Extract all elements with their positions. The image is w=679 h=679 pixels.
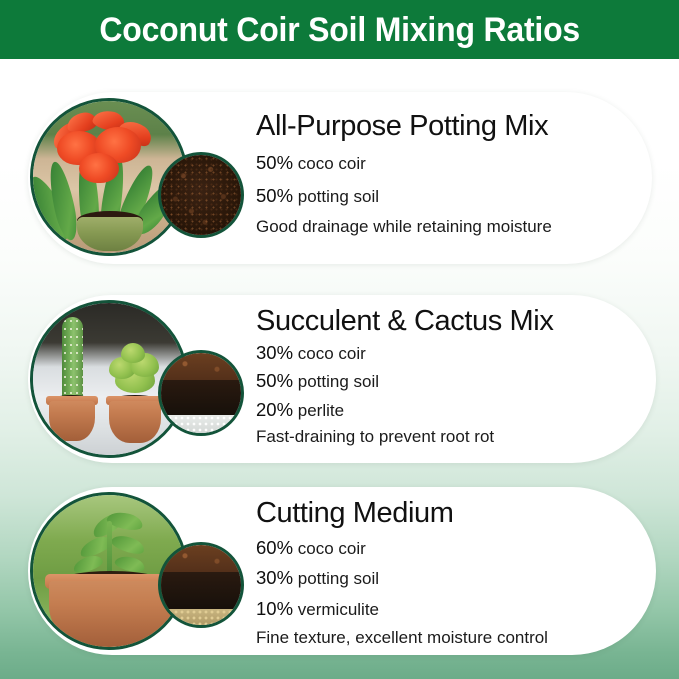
ratio-percent: 50% xyxy=(256,370,293,391)
vermiculite-layer xyxy=(161,609,241,625)
ratio-ingredient: vermiculite xyxy=(298,600,379,619)
ratio-ingredient: potting soil xyxy=(298,372,379,391)
leaf-shape xyxy=(109,531,146,558)
card-title: Succulent & Cactus Mix xyxy=(256,305,553,338)
terracotta-pot xyxy=(49,401,95,441)
card-title: Cutting Medium xyxy=(256,497,548,530)
ratio-ingredient: potting soil xyxy=(298,569,379,588)
cactus-spines xyxy=(62,317,83,399)
ratio-percent: 20% xyxy=(256,399,293,420)
ratio-line: 10% vermiculite xyxy=(256,594,548,624)
ratio-line: 50% coco coir xyxy=(256,147,552,179)
coir-layer xyxy=(161,545,241,572)
ratio-line: 30% potting soil xyxy=(256,563,548,593)
succulent-rosette xyxy=(121,343,145,363)
coir-speckles xyxy=(161,155,241,235)
flower-head xyxy=(79,153,119,183)
ratio-ingredient: coco coir xyxy=(298,344,366,363)
ratio-line: 30% coco coir xyxy=(256,339,553,367)
coir-layer xyxy=(161,353,241,380)
potting-soil-layer xyxy=(161,380,241,415)
ratio-percent: 50% xyxy=(256,152,293,173)
ratio-ingredient: coco coir xyxy=(298,154,366,173)
card-text-cutting-medium: Cutting Medium 60% coco coir 30% potting… xyxy=(256,497,548,651)
coir-soil-perlite-layers-closeup xyxy=(158,350,244,436)
soil-layer-stack xyxy=(161,353,241,433)
soil-layer-stack xyxy=(161,545,241,625)
terracotta-pot xyxy=(109,401,161,443)
ratio-line: 50% potting soil xyxy=(256,180,552,212)
card-note: Fine texture, excellent moisture control xyxy=(256,624,548,652)
ratio-ingredient: potting soil xyxy=(298,187,379,206)
coir-texture xyxy=(161,155,241,235)
flower-pot xyxy=(77,217,143,251)
card-text-all-purpose: All-Purpose Potting Mix 50% coco coir 50… xyxy=(256,110,552,241)
page-title: Coconut Coir Soil Mixing Ratios xyxy=(99,13,580,47)
ratio-percent: 10% xyxy=(256,598,293,619)
infographic-poster: Coconut Coir Soil Mixing Ratios Al xyxy=(0,0,679,679)
coco-coir-soil-closeup xyxy=(158,152,244,238)
ratio-percent: 30% xyxy=(256,342,293,363)
perlite-layer xyxy=(161,415,241,433)
cactus-shape xyxy=(62,317,83,399)
ratio-line: 60% coco coir xyxy=(256,533,548,563)
card-note: Fast-draining to prevent root rot xyxy=(256,424,553,450)
card-note: Good drainage while retaining moisture xyxy=(256,212,552,242)
ratio-percent: 50% xyxy=(256,185,293,206)
ratio-line: 50% potting soil xyxy=(256,367,553,395)
ratio-ingredient: coco coir xyxy=(298,539,366,558)
card-title: All-Purpose Potting Mix xyxy=(256,110,552,143)
potting-soil-layer xyxy=(161,572,241,609)
coir-soil-vermiculite-layers-closeup xyxy=(158,542,244,628)
ratio-ingredient: perlite xyxy=(298,401,344,420)
ratio-percent: 60% xyxy=(256,537,293,558)
terracotta-pot xyxy=(49,581,173,647)
header-banner: Coconut Coir Soil Mixing Ratios xyxy=(0,0,679,59)
card-text-succulent-cactus: Succulent & Cactus Mix 30% coco coir 50%… xyxy=(256,305,553,450)
seedling-stem xyxy=(107,521,112,577)
ratio-percent: 30% xyxy=(256,567,293,588)
ratio-line: 20% perlite xyxy=(256,396,553,424)
